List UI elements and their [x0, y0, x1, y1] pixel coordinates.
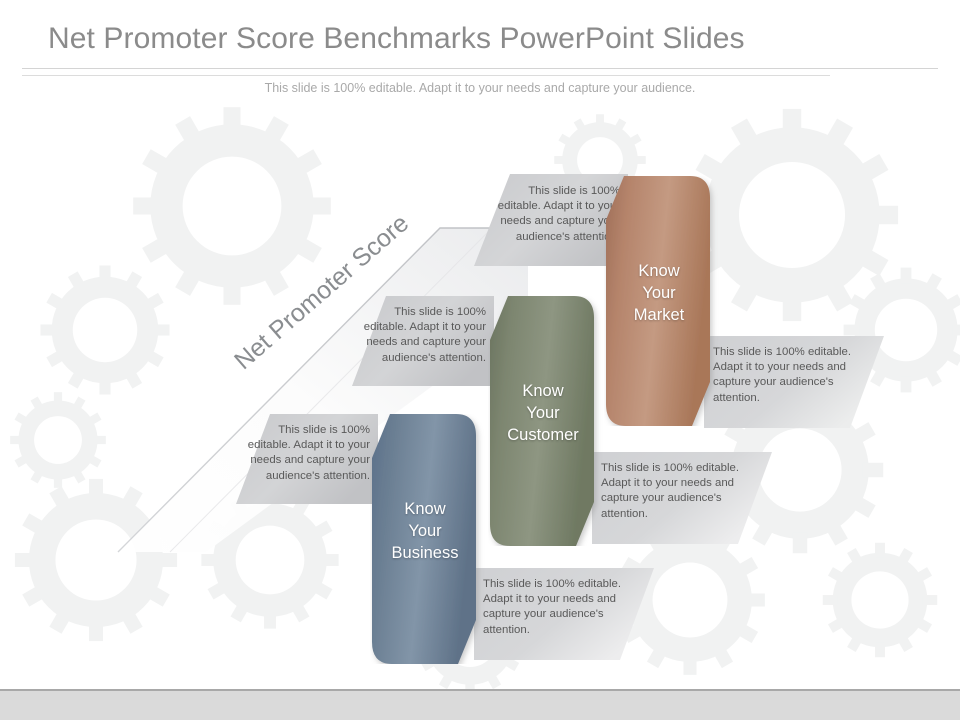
caption-text: This slide is 100% editable. Adapt it to… [601, 461, 762, 522]
caption-business-left: This slide is 100% editable. Adapt it to… [236, 414, 378, 504]
step-block-market[interactable]: Know Your Market [604, 176, 720, 426]
caption-text: This slide is 100% editable. Adapt it to… [484, 184, 620, 245]
caption-text: This slide is 100% editable. Adapt it to… [713, 345, 874, 406]
step-label-market: Know Your Market [604, 260, 714, 326]
caption-market-right: This slide is 100% editable. Adapt it to… [704, 336, 884, 428]
step-label-customer: Know Your Customer [482, 380, 604, 446]
page-title: Net Promoter Score Benchmarks PowerPoint… [48, 20, 928, 58]
title-divider-secondary [22, 75, 830, 76]
page-subtitle: This slide is 100% editable. Adapt it to… [0, 81, 960, 95]
caption-customer-left: This slide is 100% editable. Adapt it to… [352, 296, 494, 386]
step-block-customer[interactable]: Know Your Customer [488, 296, 604, 546]
title-divider-primary [22, 68, 938, 69]
footer-bar [0, 691, 960, 720]
caption-text: This slide is 100% editable. Adapt it to… [362, 305, 486, 366]
slide-canvas: Net Promoter Score Benchmarks PowerPoint… [0, 0, 960, 720]
caption-text: This slide is 100% editable. Adapt it to… [483, 577, 644, 638]
caption-business-right: This slide is 100% editable. Adapt it to… [474, 568, 654, 660]
caption-customer-right: This slide is 100% editable. Adapt it to… [592, 452, 772, 544]
step-block-business[interactable]: Know Your Business [370, 414, 486, 664]
caption-text: This slide is 100% editable. Adapt it to… [246, 423, 370, 484]
step-label-business: Know Your Business [364, 498, 486, 564]
